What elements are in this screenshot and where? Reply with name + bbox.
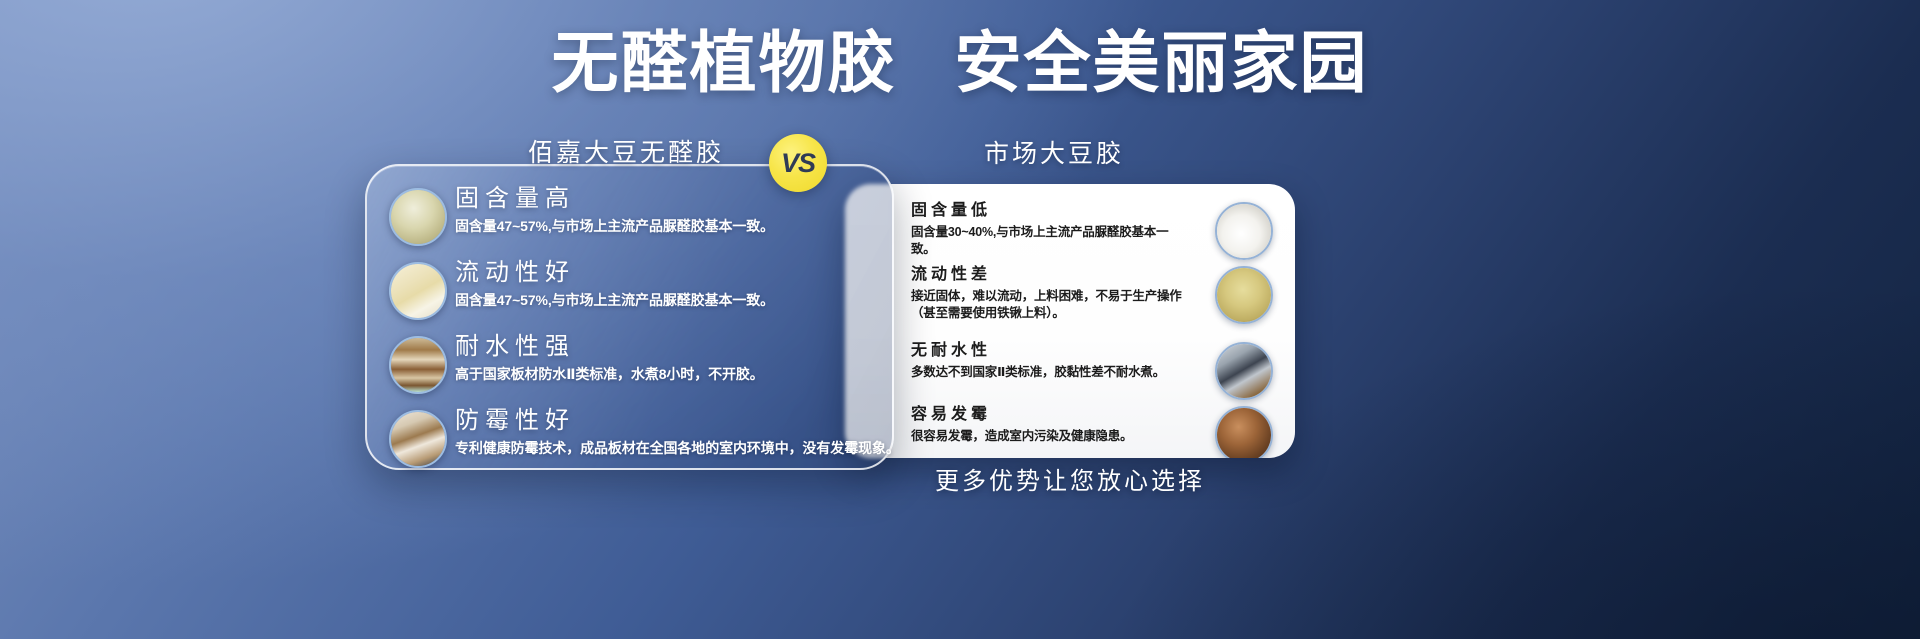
test-machine-photo [1215,342,1273,400]
clean-board-photo [389,410,447,468]
list-item: 固含量低 固含量30~40%,与市场上主流产品脲醛胶基本一致。 [911,202,1295,264]
moldy-board-photo [1215,406,1273,458]
list-item: 流动性差 接近固体，难以流动，上料困难，不易于生产操作（甚至需要使用铁锹上料）。 [911,266,1295,340]
feature-title: 防霉性好 [455,408,892,434]
feature-title: 流动性好 [455,260,892,286]
baijia-glue-panel: 固含量高 固含量47~57%,与市场上主流产品脲醛胶基本一致。 流动性好 固含量… [365,164,894,470]
feature-desc: 专利健康防霉技术，成品板材在全国各地的室内环境中，没有发霉现象。 [455,439,892,457]
promo-banner: 无醛植物胶安全美丽家园 佰嘉大豆无醛胶 市场大豆胶 VS 固含量低 固含量30~… [0,0,1920,639]
page-title: 无醛植物胶安全美丽家园 [0,26,1920,101]
thick-yellow-paste-photo [1215,266,1273,324]
feature-title: 固含量高 [455,186,892,212]
headline-part-1: 无醛植物胶 [552,26,897,101]
vs-badge-icon: VS [769,134,827,192]
list-item: 防霉性好 专利健康防霉技术，成品板材在全国各地的室内环境中，没有发霉现象。 [389,408,892,482]
boiled-plywood-photo [389,336,447,394]
feature-desc: 高于国家板材防水Ⅱ类标准，水煮8小时，不开胶。 [455,365,892,383]
feature-desc: 多数达不到国家Ⅱ类标准，胶黏性差不耐水煮。 [911,364,1183,381]
list-item: 无耐水性 多数达不到国家Ⅱ类标准，胶黏性差不耐水煮。 [911,342,1295,404]
footer-tagline: 更多优势让您放心选择 [845,461,1295,496]
left-column-label: 佰嘉大豆无醛胶 [528,133,724,169]
feature-desc: 接近固体，难以流动，上料困难，不易于生产操作（甚至需要使用铁锹上料）。 [911,288,1183,323]
feature-desc: 固含量47~57%,与市场上主流产品脲醛胶基本一致。 [455,291,892,309]
list-item: 固含量高 固含量47~57%,与市场上主流产品脲醛胶基本一致。 [389,186,892,260]
market-glue-panel: 固含量低 固含量30~40%,与市场上主流产品脲醛胶基本一致。 流动性差 接近固… [845,184,1295,458]
list-item: 容易发霉 很容易发霉，造成室内污染及健康隐患。 [911,406,1295,458]
glue-flow-photo [389,262,447,320]
soy-paste-photo [389,188,447,246]
feature-desc: 固含量47~57%,与市场上主流产品脲醛胶基本一致。 [455,217,892,235]
list-item: 耐水性强 高于国家板材防水Ⅱ类标准，水煮8小时，不开胶。 [389,334,892,408]
right-column-label: 市场大豆胶 [984,134,1124,170]
list-item: 流动性好 固含量47~57%,与市场上主流产品脲醛胶基本一致。 [389,260,892,334]
feature-title: 耐水性强 [455,334,892,360]
feature-desc: 固含量30~40%,与市场上主流产品脲醛胶基本一致。 [911,224,1183,259]
white-glue-cake-photo [1215,202,1273,260]
feature-desc: 很容易发霉，造成室内污染及健康隐患。 [911,428,1183,445]
vs-badge-label: VS [781,150,815,177]
headline-part-2: 安全美丽家园 [955,26,1369,101]
